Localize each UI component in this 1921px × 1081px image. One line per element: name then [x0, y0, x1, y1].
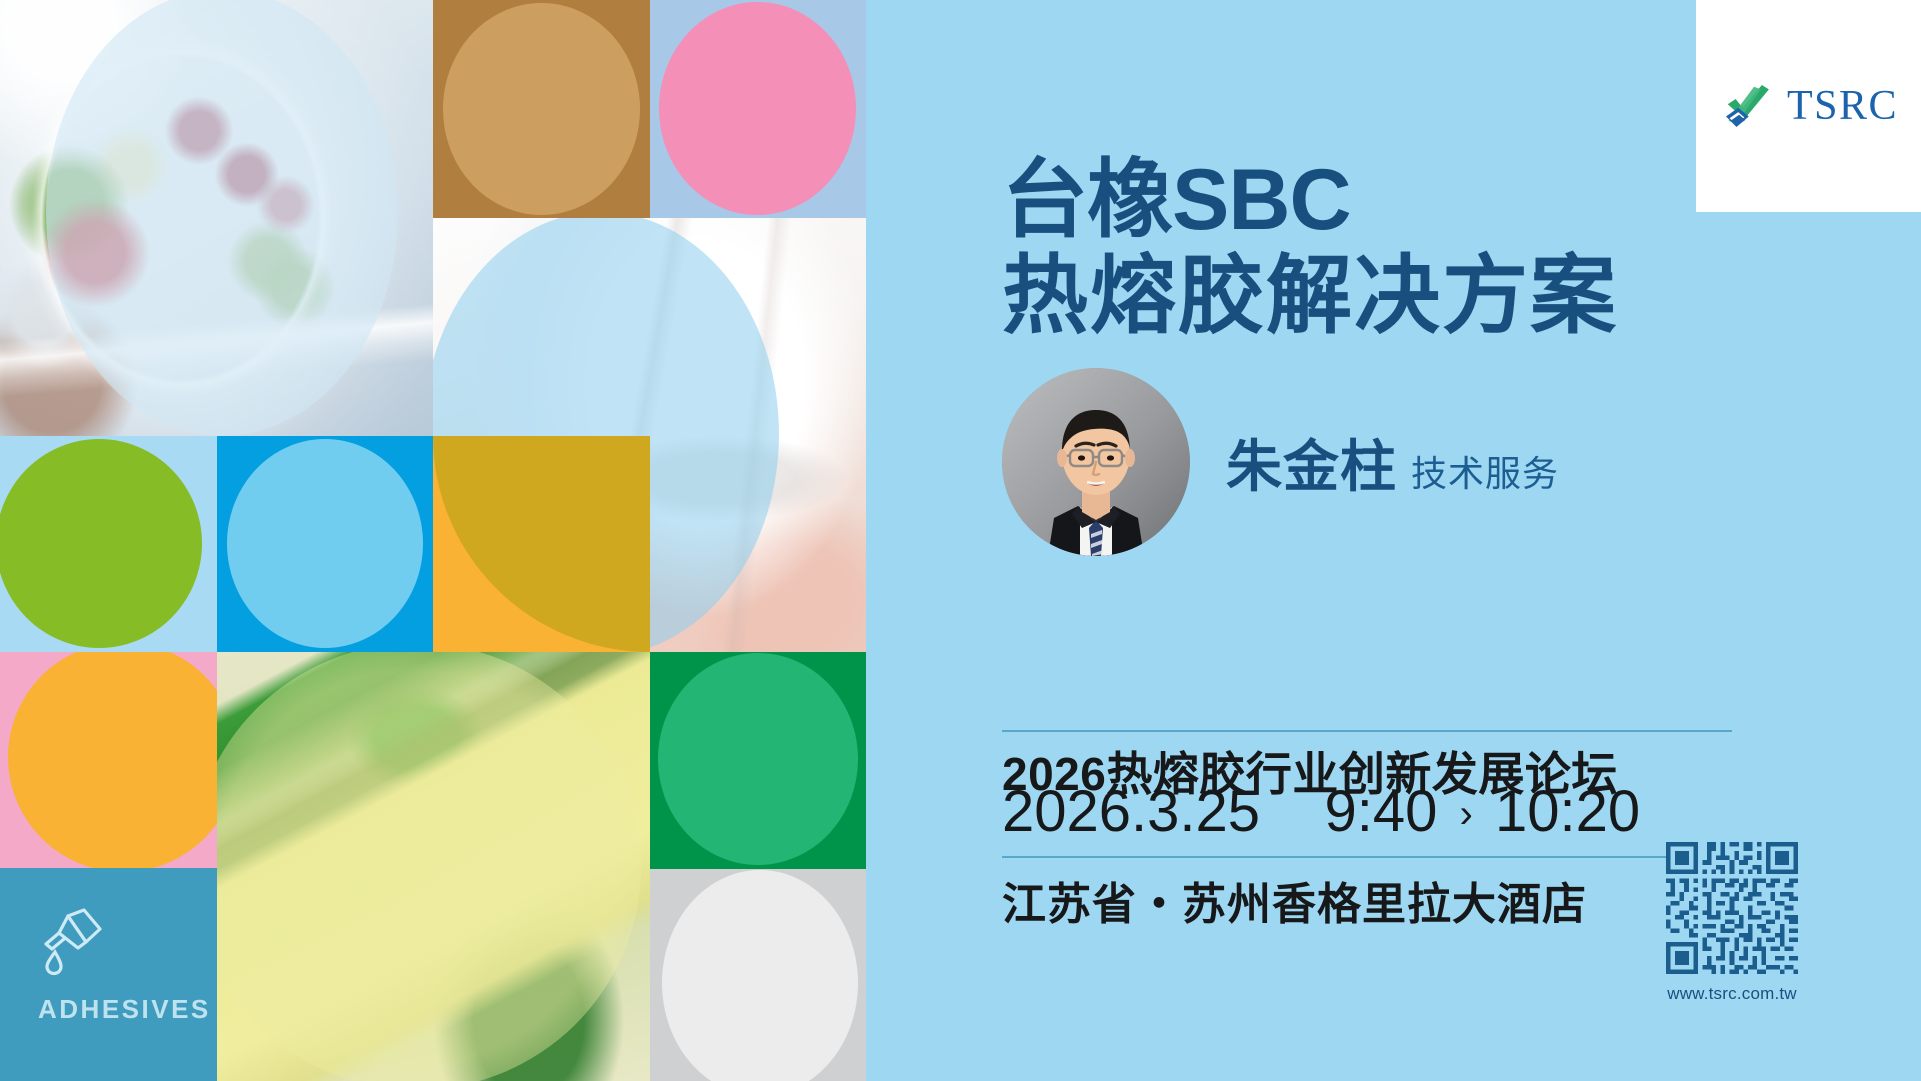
collage-tile-adhesives-badge: ADHESIVES: [0, 868, 217, 1081]
collage-tile-yellow-quarter: [433, 436, 650, 652]
glue-drop-shape: [47, 952, 61, 974]
qr-block: www.tsrc.com.tw: [1632, 842, 1832, 1004]
website-url[interactable]: www.tsrc.com.tw: [1632, 984, 1832, 1004]
pink-circle-shape: [659, 2, 856, 215]
page-title: 台橡SBC 热熔胶解决方案: [1002, 152, 1618, 345]
collage-tile-pink-circle: [650, 0, 866, 218]
event-poster: ADHESIVES TSRC 台橡SBC 热熔胶解决方: [0, 0, 1921, 1081]
divider-bottom: [1002, 856, 1732, 858]
tsrc-check-mark-icon: [1719, 78, 1775, 134]
event-venue: 江苏省・苏州香格里拉大酒店: [1002, 868, 1587, 932]
collage-tile-grey-circle: [650, 869, 866, 1081]
collage-tile-salad-packaging: [0, 0, 433, 436]
collage-tile-orange-circle: [0, 652, 217, 868]
event-date: 2026.3.25: [1002, 779, 1260, 844]
event-datetime: 2026.3.25 9:40 › 10:20: [1002, 778, 1640, 845]
green-circle-shape: [0, 439, 202, 648]
tsrc-logo-text: TSRC: [1787, 82, 1898, 130]
content-panel: TSRC 台橡SBC 热熔胶解决方案: [866, 0, 1921, 1081]
event-time-start: 9:40: [1325, 779, 1438, 844]
salad-tile-overlay-ellipse: [46, 0, 398, 436]
tan-circle-shape: [443, 3, 640, 215]
speaker-block: 朱金柱技术服务: [1002, 368, 1559, 556]
grey-circle-shape: [662, 870, 858, 1081]
speaker-portrait: [1002, 368, 1190, 556]
image-collage: ADHESIVES: [0, 0, 866, 1081]
collage-tile-tan-circle: [433, 0, 650, 218]
collage-tile-emerald-circle: [650, 652, 866, 869]
speaker-title: 技术服务: [1411, 453, 1559, 494]
cyan-circle-shape: [227, 439, 423, 648]
adhesives-label: ADHESIVES: [38, 994, 211, 1025]
speaker-identity: 朱金柱技术服务: [1226, 422, 1559, 503]
emerald-circle-shape: [658, 653, 858, 865]
orange-circle-shape: [8, 652, 217, 868]
yellow-quarter-circle-shape: [433, 436, 650, 652]
speaker-name: 朱金柱: [1226, 435, 1397, 498]
avatar: [1002, 368, 1190, 556]
collage-tile-cyan-circle: [217, 436, 433, 652]
headline-line-2: 热熔胶解决方案: [1002, 248, 1618, 344]
event-time-end: 10:20: [1495, 779, 1640, 844]
collage-tile-wine-bottle: [217, 652, 650, 1081]
qr-code-icon[interactable]: [1666, 842, 1798, 974]
time-range-chevron-icon: ›: [1454, 792, 1479, 836]
wine-bottle-overlay-ellipse: [217, 652, 641, 1081]
divider-top: [1002, 730, 1732, 732]
glue-bottle-drop-icon: [38, 902, 112, 976]
headline-line-1: 台橡SBC: [1002, 152, 1618, 248]
collage-tile-green-circle: [0, 436, 217, 652]
tsrc-logo: TSRC: [1696, 0, 1921, 212]
